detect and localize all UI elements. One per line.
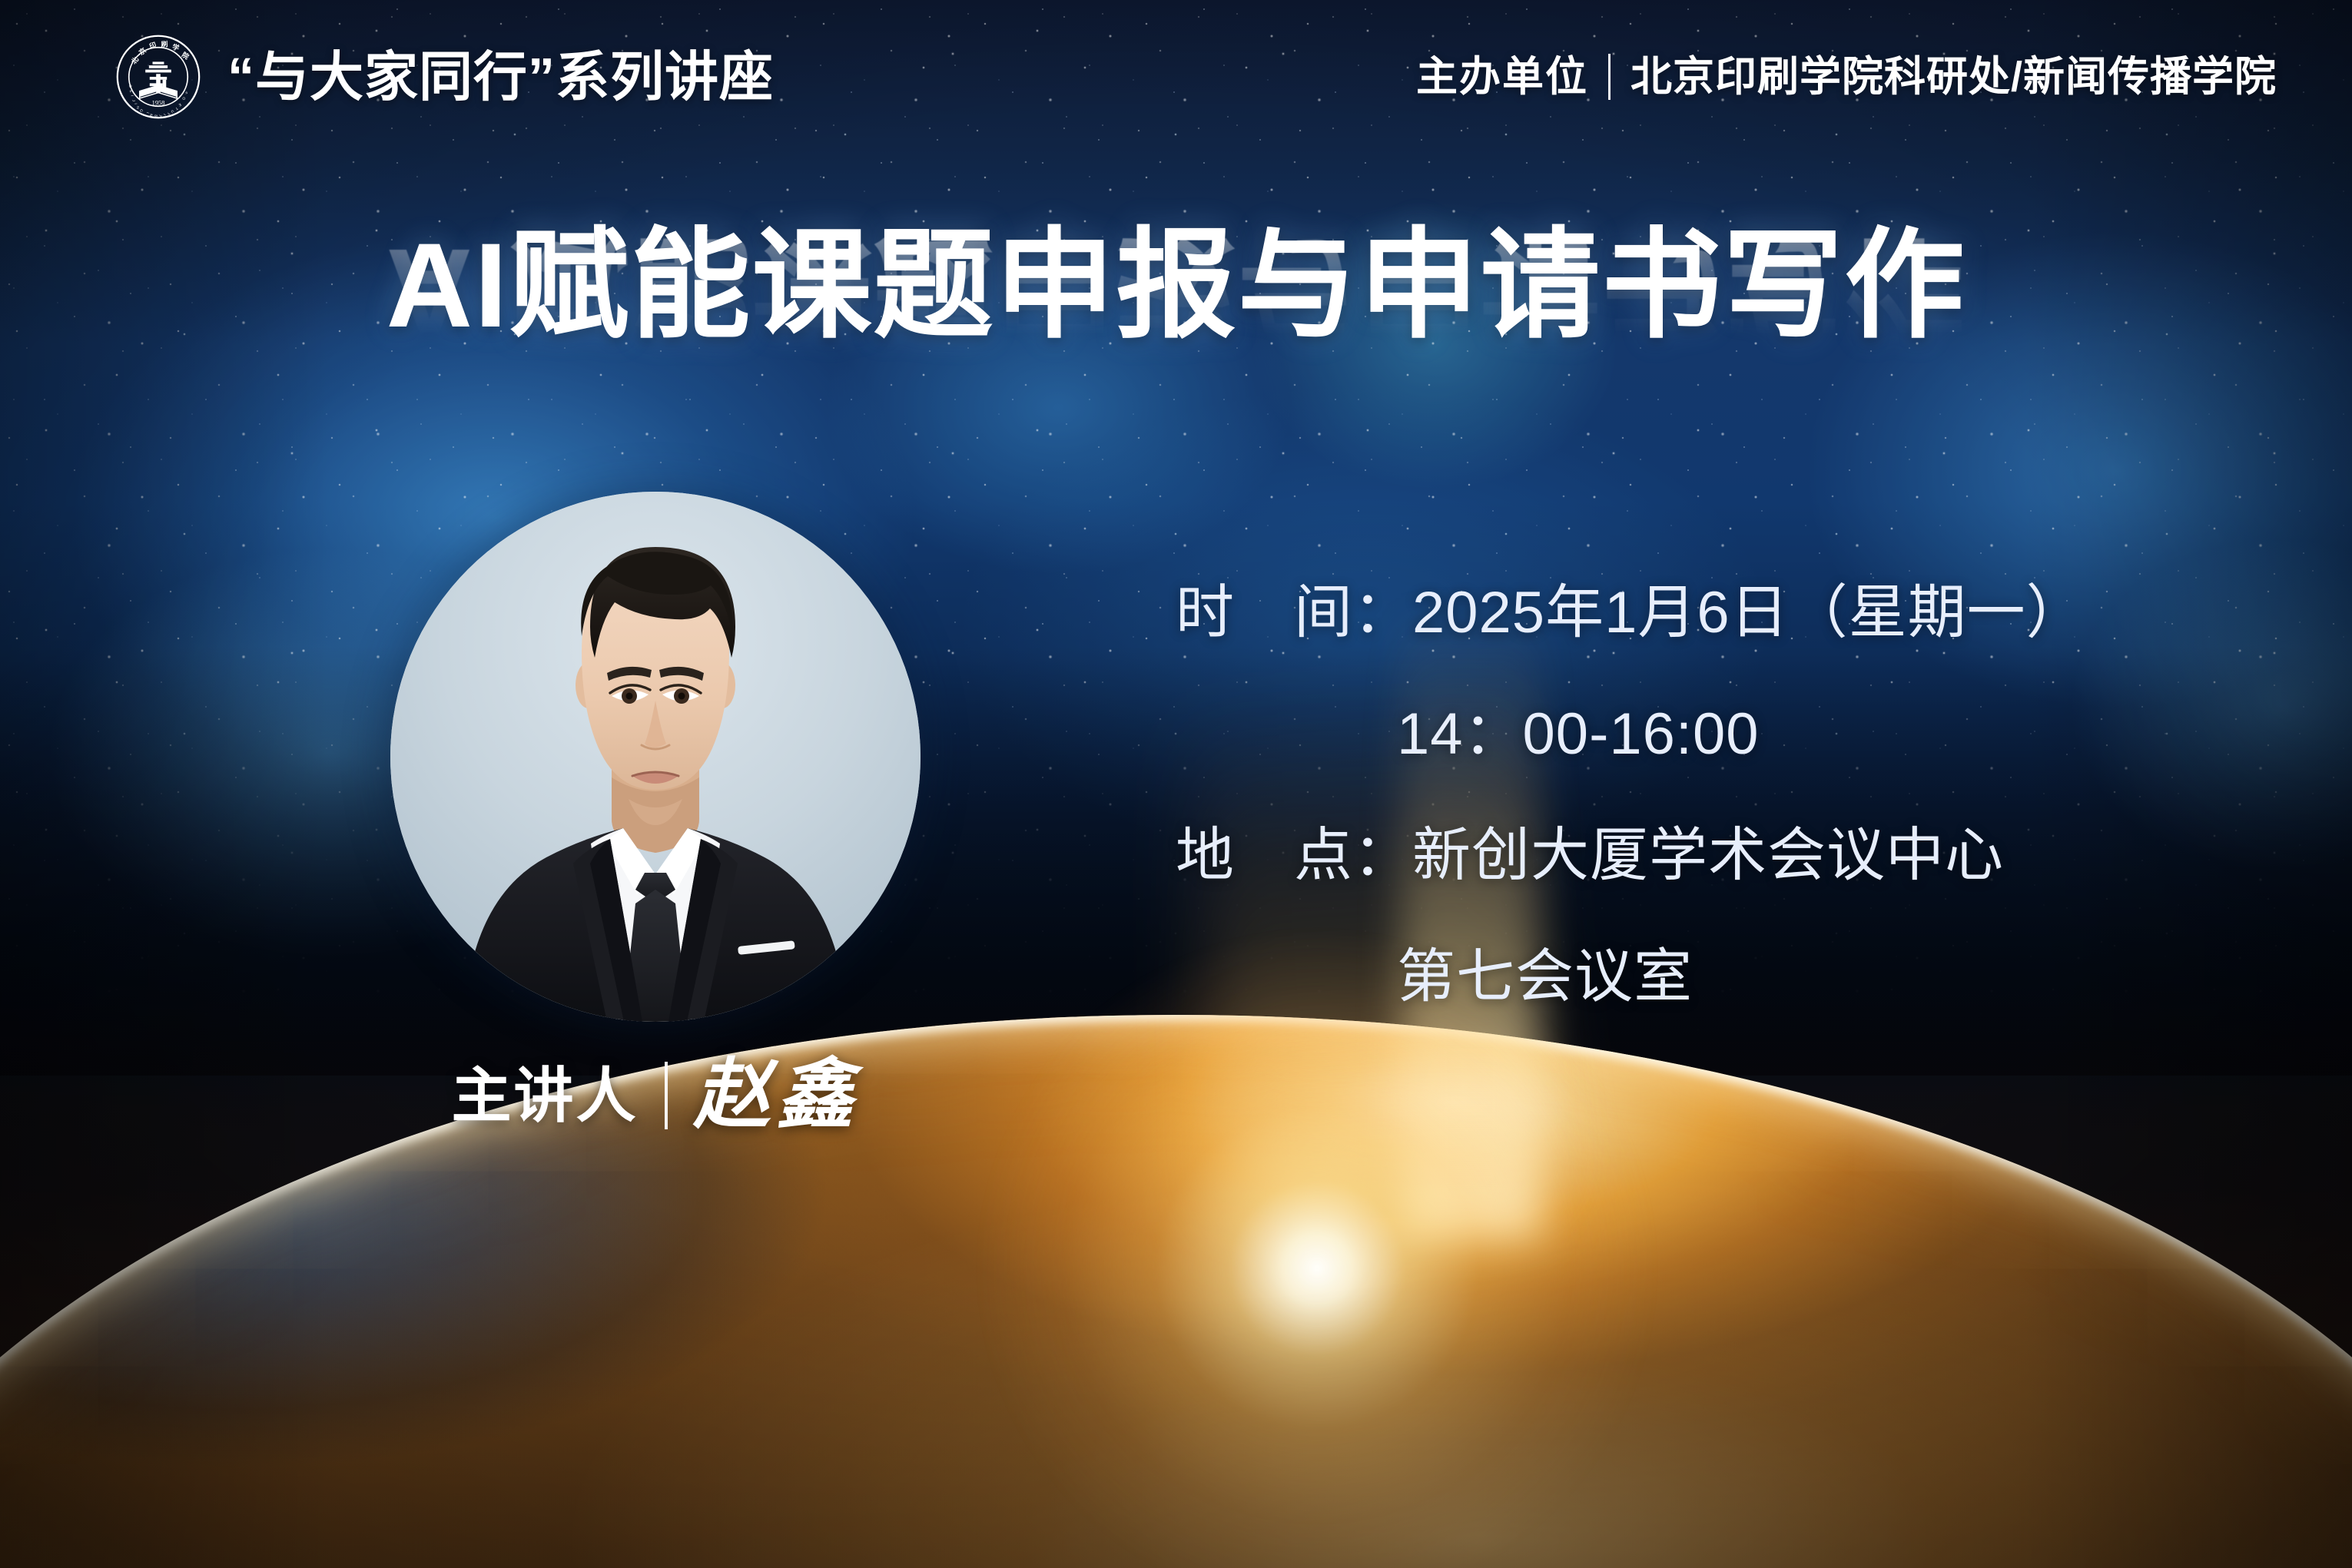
speaker-name: 赵鑫 — [694, 1057, 860, 1134]
svg-text:T: T — [174, 106, 178, 111]
event-room-row: 第七会议室 — [1176, 948, 2085, 1006]
svg-text:I: I — [163, 113, 167, 116]
svg-text:B: B — [128, 85, 133, 88]
event-date-row: 时 间：2025年1月6日（星期一） — [1176, 584, 2085, 642]
svg-text:F: F — [184, 91, 187, 95]
svg-text:北: 北 — [129, 55, 140, 66]
university-logo-icon: 1958 北 京 印 刷 学 院 B E I J — [115, 34, 201, 120]
speaker-name-line: 主讲人 赵鑫 — [390, 1057, 921, 1134]
svg-text:学: 学 — [171, 42, 180, 52]
avatar — [390, 492, 921, 1022]
svg-text:G: G — [139, 109, 143, 113]
page-title-reflection: AI赋能课题申报与申请书写作 — [0, 226, 2352, 355]
svg-text:I: I — [131, 94, 134, 97]
event-time-row: 14：00-16:00 — [1176, 705, 2085, 764]
organizer-divider-icon — [1608, 54, 1611, 100]
poster-header: 1958 北 京 印 刷 学 院 B E I J — [0, 34, 2352, 120]
organizer-name: 北京印刷学院科研处/新闻传播学院 — [1630, 56, 2277, 98]
svg-text:I: I — [146, 111, 150, 114]
poster-content: 1958 北 京 印 刷 学 院 B E I J — [0, 0, 2352, 1568]
svg-text:E: E — [129, 90, 134, 94]
organizer-label: 主办单位 — [1416, 56, 1588, 98]
speaker-label: 主讲人 — [451, 1066, 638, 1125]
series-title: “与大家同行”系列讲座 — [227, 50, 774, 104]
svg-text:I: I — [134, 103, 138, 104]
event-place-row: 地 点：新创大厦学术会议中心 — [1176, 827, 2085, 885]
svg-text:1958: 1958 — [152, 99, 165, 106]
svg-text:O: O — [181, 96, 185, 101]
svg-text:E: E — [177, 103, 181, 108]
event-poster: 1958 北 京 印 刷 学 院 B E I J — [0, 0, 2352, 1568]
organizer-block: 主办单位 北京印刷学院科研处/新闻传播学院 — [1416, 54, 2298, 100]
title-block: AI赋能课题申报与申请书写作 AI赋能课题申报与申请书写作 — [0, 221, 2352, 485]
speaker-divider-icon — [665, 1062, 668, 1129]
svg-text:J: J — [131, 99, 135, 101]
speaker-block: 主讲人 赵鑫 — [390, 492, 921, 1134]
svg-text:N: N — [136, 106, 140, 109]
svg-text:刷: 刷 — [161, 39, 168, 48]
event-info-block: 时 间：2025年1月6日（星期一） 14：00-16:00 地 点：新创大厦学… — [1176, 584, 2085, 1006]
